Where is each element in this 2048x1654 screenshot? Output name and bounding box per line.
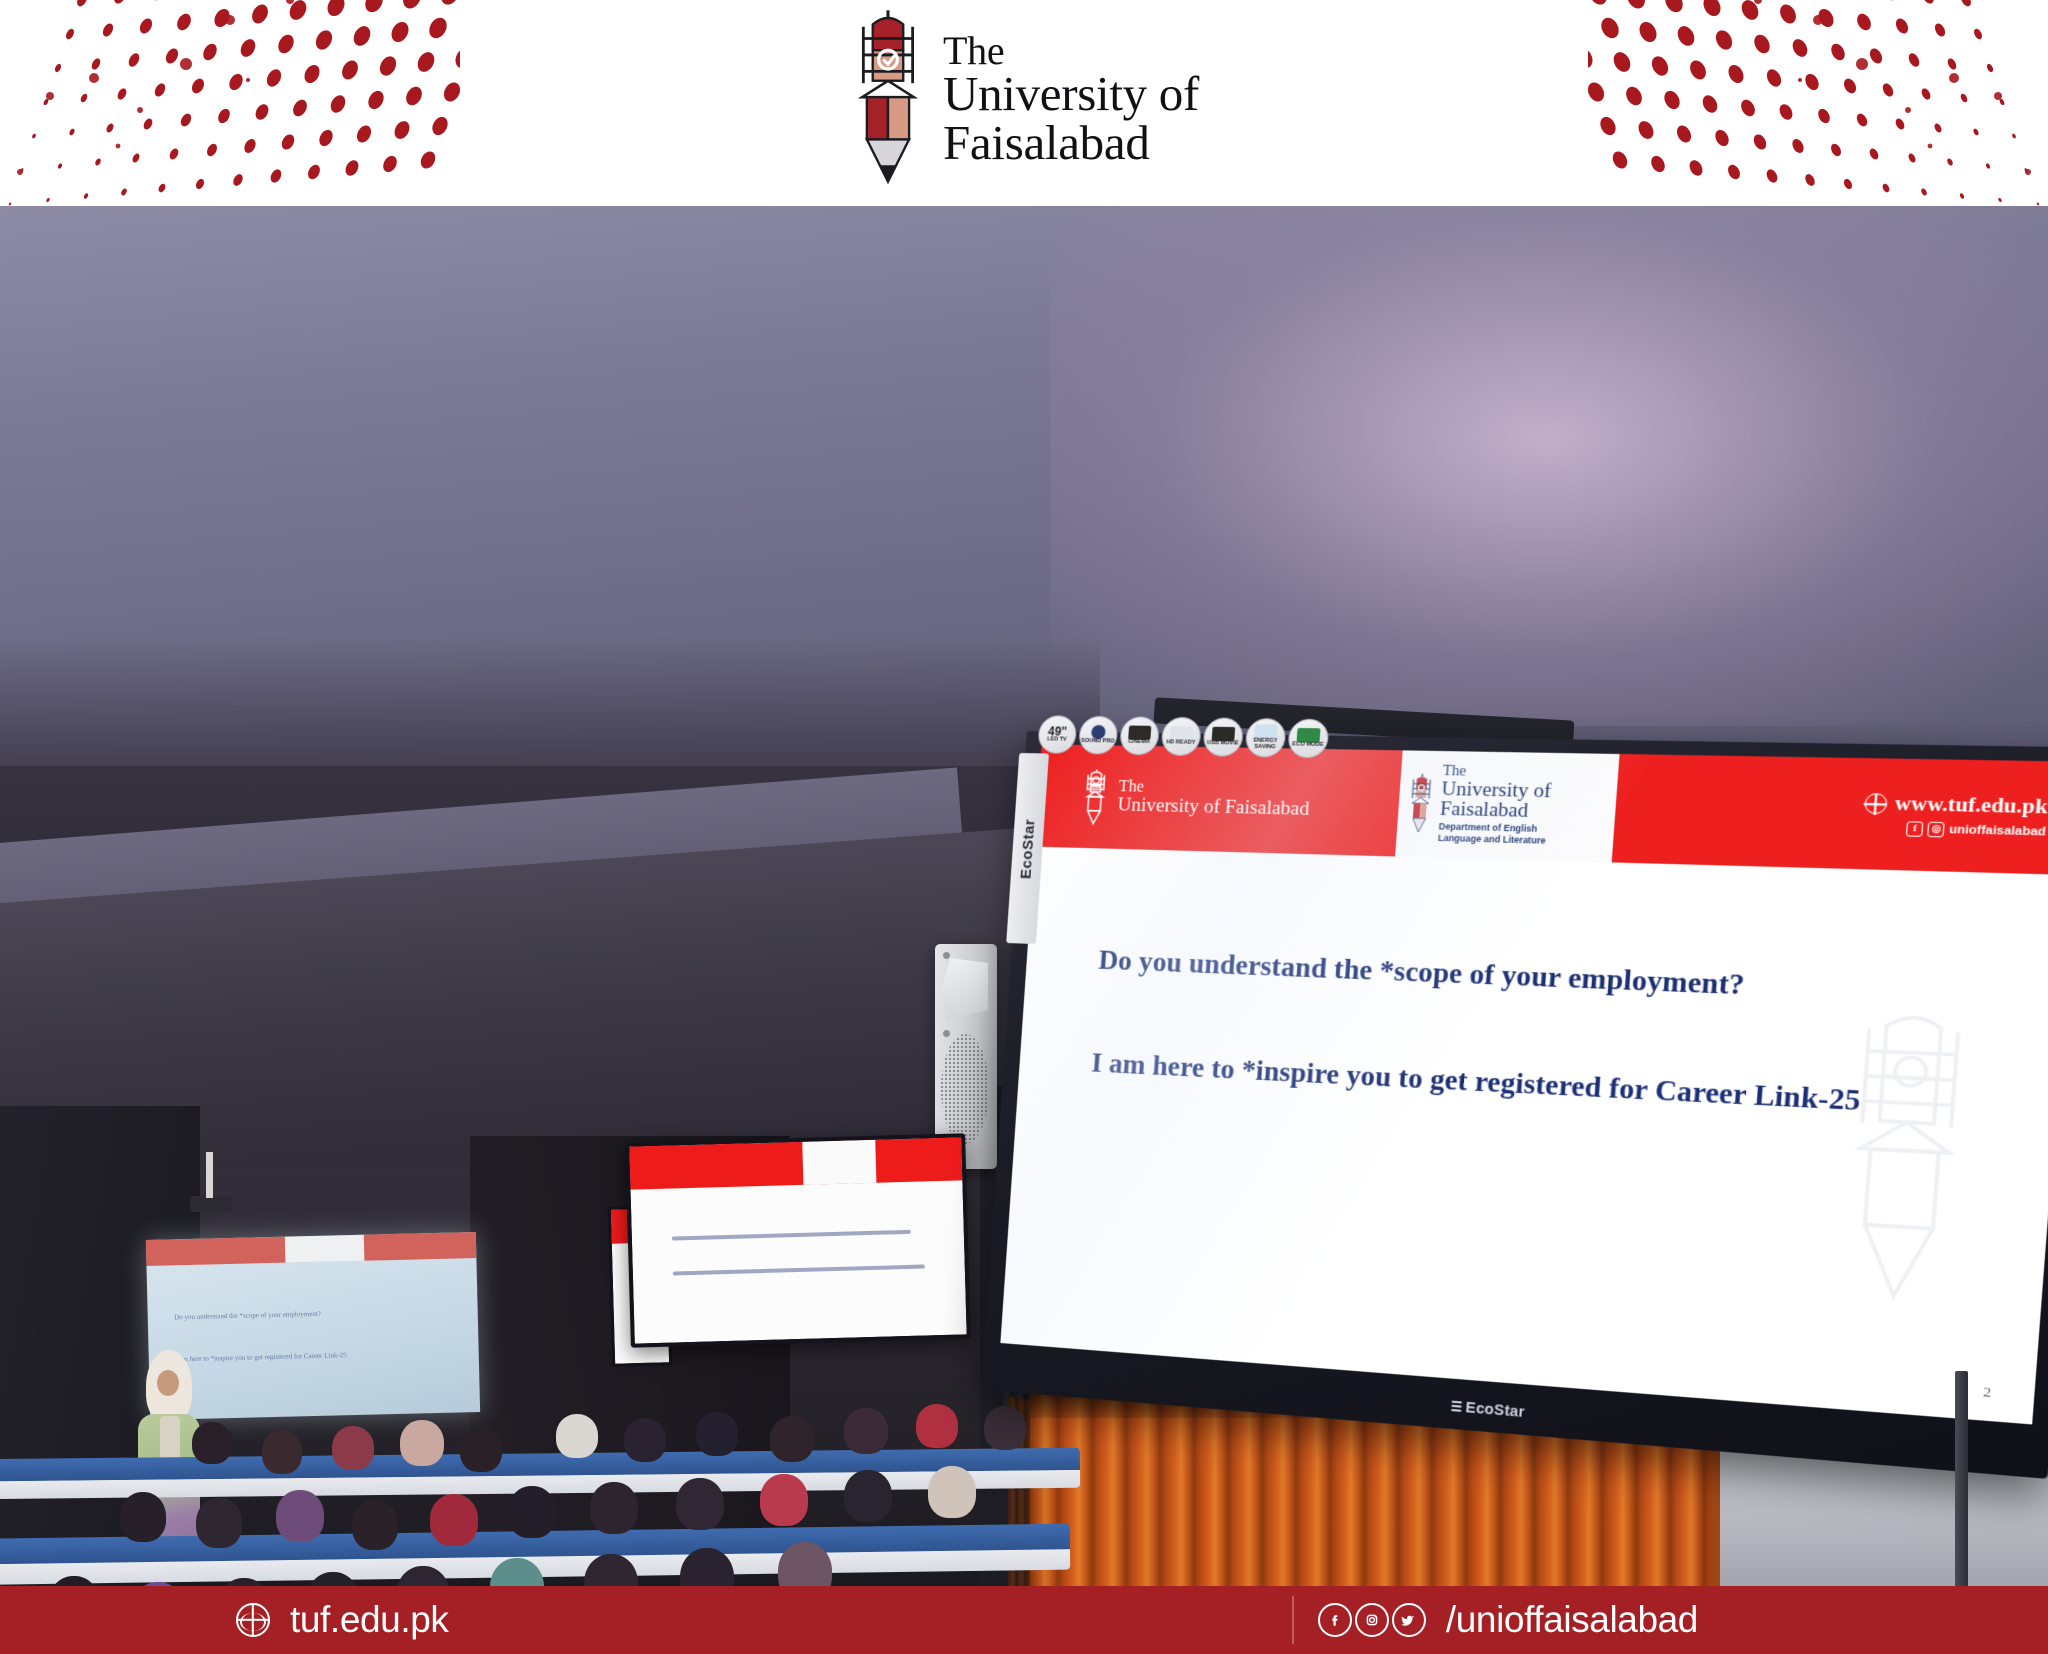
tv-badge-sound: SOUND PRO bbox=[1078, 716, 1119, 755]
tv-badge-size: 49" LED TV bbox=[1037, 715, 1077, 754]
audience-seating bbox=[0, 1436, 1090, 1586]
slide-page-number: 2 bbox=[1983, 1383, 1992, 1401]
slide-header-center: The University of Faisalabad Department … bbox=[1395, 750, 1620, 862]
secondary-monitor-slide-header bbox=[629, 1137, 962, 1190]
slide-header-center-brand: The University of Faisalabad Department … bbox=[1438, 765, 1553, 846]
tv-badge-cinema: CINEMA bbox=[1119, 716, 1160, 755]
ecostar-mark-icon bbox=[1451, 1400, 1462, 1412]
tv-badge-energy: ENERGY SAVING bbox=[1245, 718, 1287, 758]
speaker-horn bbox=[942, 958, 988, 1020]
slide-body-line1: Do you understand the *scope of your emp… bbox=[1097, 941, 1979, 1013]
brand-line-2: University of bbox=[943, 70, 1199, 119]
globe-icon bbox=[236, 1603, 270, 1637]
twitter-icon[interactable] bbox=[1392, 1603, 1426, 1637]
globe-icon bbox=[1864, 793, 1888, 814]
slide-header-left: The University of Faisalabad bbox=[1035, 744, 1403, 856]
ceiling-light-glow bbox=[1050, 206, 2048, 726]
presenter-face bbox=[157, 1370, 179, 1396]
secondary-monitor bbox=[625, 1133, 971, 1347]
brand-line-1: The bbox=[943, 31, 1199, 71]
tv-brand-label: EcoStar bbox=[1465, 1399, 1525, 1421]
slide-header-left-brand: The University of Faisalabad bbox=[1117, 779, 1311, 819]
footer-social-icons bbox=[1318, 1603, 1426, 1637]
tv-brand-logo: EcoStar bbox=[1451, 1398, 1525, 1421]
lighthouse-pencil-logo-icon bbox=[849, 8, 927, 184]
projected-slide-line2: I am here to *inspire you to get registe… bbox=[175, 1349, 452, 1364]
slide-social: f ◎ unioffaisalabad bbox=[1906, 821, 2046, 840]
photograph-lecture-hall: Do you understand the *scope of your emp… bbox=[0, 206, 2048, 1586]
lighthouse-pencil-logo-red-icon bbox=[1405, 771, 1435, 836]
university-logo: The University of Faisalabad bbox=[849, 8, 1199, 184]
tv-badge-eco: ECO MODE bbox=[1287, 719, 1330, 759]
ceiling-projector bbox=[190, 1196, 232, 1212]
tv-brand-sticker-label: EcoStar bbox=[1017, 818, 1038, 879]
slide-body: Do you understand the *scope of your emp… bbox=[1000, 846, 2048, 1424]
footer-handle-label: /unioffaisalabad bbox=[1446, 1599, 1698, 1641]
tv-feature-badges: 49" LED TV SOUND PRO CINEMA HD READY bbox=[1037, 715, 1330, 758]
tv-badge-hd: HD READY bbox=[1160, 717, 1201, 756]
speaker-grille bbox=[941, 1034, 989, 1144]
instagram-icon[interactable] bbox=[1355, 1603, 1389, 1637]
halftone-pattern-left bbox=[0, 0, 460, 206]
slide-social-handle: unioffaisalabad bbox=[1949, 823, 2047, 838]
slide-department-line2: Language and Literature bbox=[1438, 832, 1548, 846]
footer-website[interactable]: tuf.edu.pk bbox=[236, 1599, 449, 1641]
footer-social[interactable]: /unioffaisalabad bbox=[1318, 1599, 1698, 1641]
tv-screen: The University of Faisalabad bbox=[1000, 744, 2048, 1424]
projected-slide-line1: Do you understand the *scope of your emp… bbox=[174, 1307, 451, 1322]
facebook-icon[interactable] bbox=[1318, 1603, 1352, 1637]
instagram-icon: ◎ bbox=[1927, 822, 1945, 838]
slide-website: www.tuf.edu.pk bbox=[1864, 792, 2048, 820]
university-logo-text: The University of Faisalabad bbox=[943, 25, 1199, 168]
tv-bezel: 49" LED TV SOUND PRO CINEMA HD READY bbox=[981, 731, 2048, 1479]
tv-support-post bbox=[1955, 1371, 1968, 1586]
brand-line-3: Faisalabad bbox=[943, 119, 1199, 168]
halftone-pattern-right bbox=[1588, 0, 2048, 206]
facebook-icon: f bbox=[1906, 821, 1924, 837]
footer-website-label: tuf.edu.pk bbox=[290, 1599, 449, 1641]
wall-mounted-tv: 49" LED TV SOUND PRO CINEMA HD READY bbox=[1004, 731, 1984, 1391]
page-footer: tuf.edu.pk /unioffaisalabad bbox=[0, 1586, 2048, 1654]
presentation-slide: The University of Faisalabad bbox=[1000, 744, 2048, 1424]
footer-divider bbox=[1292, 1596, 1294, 1644]
page-header: The University of Faisalabad bbox=[0, 0, 2048, 206]
slide-header-right: www.tuf.edu.pk f ◎ unioffaisalabad bbox=[1611, 754, 2048, 875]
slide-body-line2: I am here to *inspire you to get registe… bbox=[1090, 1044, 1971, 1126]
tv-badge-usb: USB MOVIE bbox=[1202, 717, 1244, 756]
slide-website-label: www.tuf.edu.pk bbox=[1894, 792, 2048, 819]
lighthouse-pencil-logo-icon bbox=[1080, 767, 1110, 826]
